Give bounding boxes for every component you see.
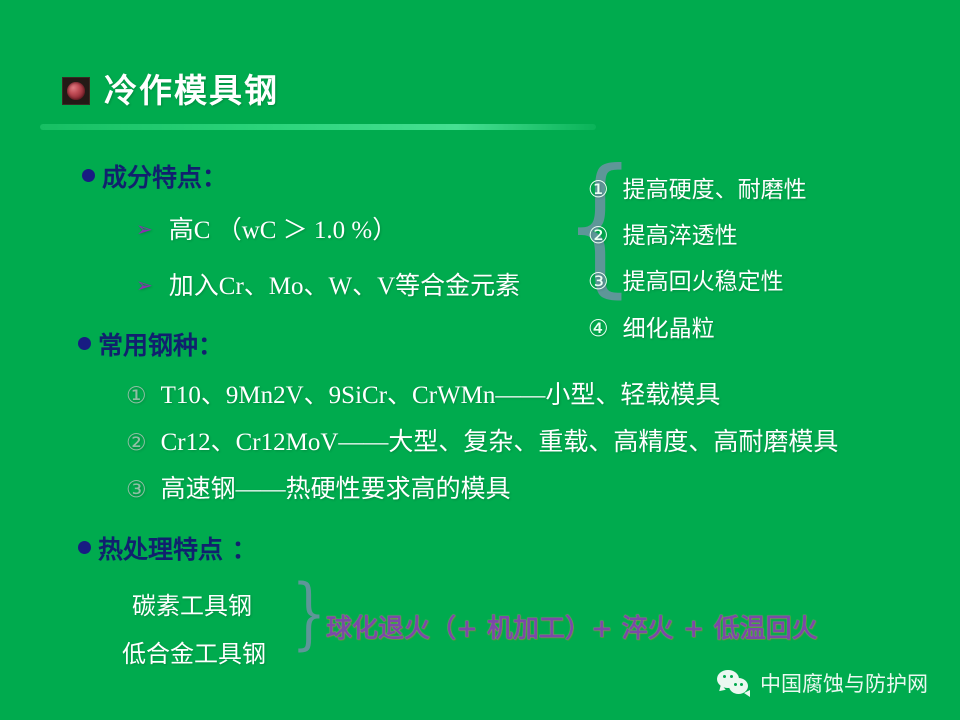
list-item-steel-3: ③ 高速钢——热硬性要求高的模具 [126, 469, 511, 505]
list-item-steel-2: ② Cr12、Cr12MoV——大型、复杂、重载、高精度、高耐磨模具 [126, 422, 838, 458]
list-item-effect-2: ② 提高淬透性 [588, 216, 738, 250]
wechat-icon [717, 670, 751, 696]
arrow-bullet-icon: ➢ [136, 276, 153, 296]
circled-number-icon: ② [588, 223, 609, 249]
circled-number-icon: ① [588, 177, 609, 203]
list-item-effect-1: ① 提高硬度、耐磨性 [588, 170, 807, 204]
heading-heat-treatment-label: 热处理特点 ： [98, 530, 257, 566]
heat-treatment-process-text: 球化退火（+ 机加工）+ 淬火 + 低温回火 [326, 608, 818, 645]
list-item-composition-1: ➢ 高C （wC ＞ 1.0 %） [136, 210, 397, 246]
circled-number-icon: ③ [126, 477, 147, 503]
list-item-composition-2-label: 加入Cr、Mo、W、V等合金元素 [169, 266, 520, 302]
right-curly-brace: } [291, 575, 326, 653]
circled-number-icon: ① [126, 383, 147, 409]
heading-composition: 成分特点： [82, 158, 227, 194]
list-item-composition-1-label: 高C （wC ＞ 1.0 %） [169, 210, 397, 246]
watermark-label: 中国腐蚀与防护网 [760, 668, 928, 698]
circled-number-icon: ② [126, 430, 147, 456]
page-title: 冷作模具钢 [104, 74, 279, 107]
list-item-steel-1: ① T10、9Mn2V、9SiCr、CrWMn——小型、轻载模具 [126, 375, 720, 411]
bullet-dot-icon [78, 541, 91, 554]
material-carbon-tool-steel: 碳素工具钢 [132, 586, 252, 621]
heading-common-steels: 常用钢种： [78, 326, 223, 362]
heading-composition-label: 成分特点： [102, 158, 227, 194]
arrow-bullet-icon: ➢ [136, 220, 153, 240]
list-item-steel-3-label: 高速钢——热硬性要求高的模具 [161, 469, 511, 505]
heading-common-steels-label: 常用钢种： [98, 326, 223, 362]
wechat-icon-tail-small [744, 690, 750, 697]
list-item-effect-4-label: 细化晶粒 [623, 309, 715, 343]
material-low-alloy-tool-steel: 低合金工具钢 [122, 634, 266, 669]
wechat-icon-tail-large [719, 684, 727, 692]
list-item-effect-3: ③ 提高回火稳定性 [588, 262, 784, 296]
slide-canvas: 冷作模具钢 成分特点： ➢ 高C （wC ＞ 1.0 %） ➢ 加入Cr、Mo、… [0, 0, 960, 720]
list-item-steel-1-label: T10、9Mn2V、9SiCr、CrWMn——小型、轻载模具 [161, 375, 721, 411]
bullet-dot-icon [82, 169, 95, 182]
bullet-dot-icon [78, 337, 91, 350]
circled-number-icon: ③ [588, 269, 609, 295]
circled-number-icon: ④ [588, 316, 609, 342]
watermark: 中国腐蚀与防护网 [717, 668, 928, 698]
gem-square-icon [62, 77, 90, 105]
list-item-effect-4: ④ 细化晶粒 [588, 309, 715, 343]
list-item-effect-3-label: 提高回火稳定性 [623, 262, 784, 296]
list-item-effect-1-label: 提高硬度、耐磨性 [623, 170, 807, 204]
slide-title-row: 冷作模具钢 [62, 74, 279, 107]
gem-icon-core [67, 82, 85, 100]
heading-heat-treatment: 热处理特点 ： [78, 530, 257, 566]
title-divider [40, 124, 596, 130]
list-item-composition-2: ➢ 加入Cr、Mo、W、V等合金元素 [136, 266, 520, 302]
list-item-effect-2-label: 提高淬透性 [623, 216, 738, 250]
list-item-steel-2-label: Cr12、Cr12MoV——大型、复杂、重载、高精度、高耐磨模具 [161, 422, 839, 458]
